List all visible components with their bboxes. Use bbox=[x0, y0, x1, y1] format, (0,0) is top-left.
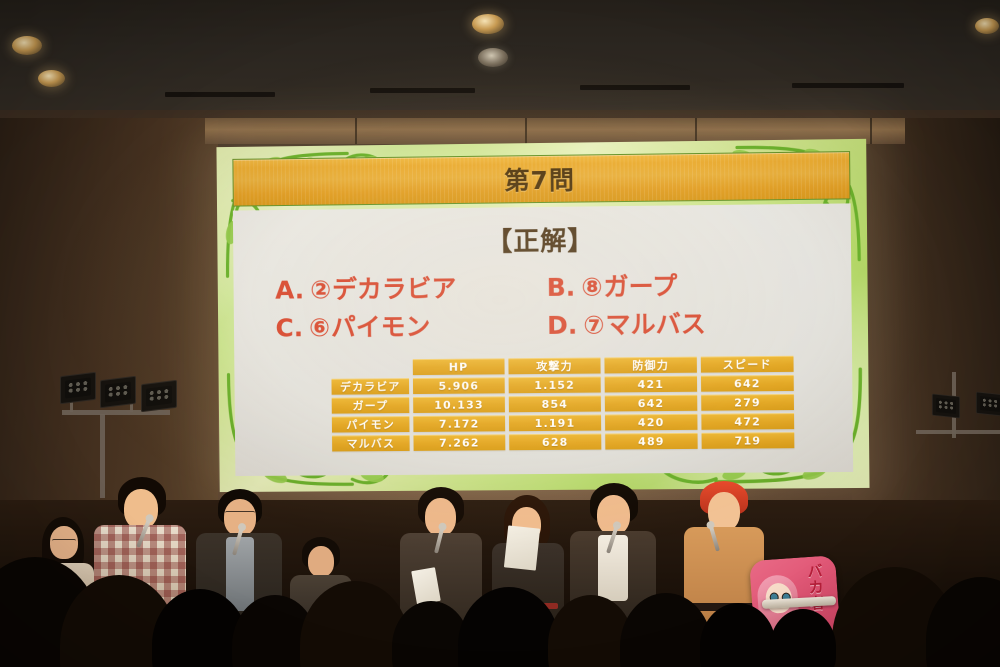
stats-cell-hp: 7.262 bbox=[413, 434, 505, 451]
stats-col-hp: HP bbox=[413, 358, 505, 375]
stats-row-label: マルバス bbox=[332, 435, 410, 452]
presenter-head bbox=[308, 546, 334, 577]
ceiling-strip bbox=[165, 92, 275, 97]
presenter-inner-shirt bbox=[598, 535, 628, 601]
stats-cell-speed: 279 bbox=[701, 394, 794, 411]
answer-key: B. bbox=[547, 273, 576, 302]
stats-col-speed: スピード bbox=[701, 356, 794, 373]
ceiling-downlight bbox=[975, 18, 999, 34]
stats-cell-defense: 489 bbox=[605, 433, 697, 450]
stage-photo-scene: 第7問 【正解】 A.②デカラビア B.⑧ガープ C.⑥パイモン bbox=[0, 0, 1000, 667]
light-stand-crossbar bbox=[62, 410, 170, 415]
slide: 第7問 【正解】 A.②デカラビア B.⑧ガープ C.⑥パイモン bbox=[216, 139, 869, 492]
wall-left-panel bbox=[0, 118, 218, 518]
wall-right-panel bbox=[852, 118, 1000, 518]
stats-col-attack: 攻撃力 bbox=[508, 357, 600, 374]
ceiling-downlight bbox=[478, 48, 508, 67]
stats-cell-defense: 421 bbox=[605, 376, 697, 393]
presenter-head bbox=[124, 489, 158, 529]
stats-cell-attack: 1.191 bbox=[509, 415, 601, 432]
table-row: パイモン 7.172 1.191 420 472 bbox=[332, 413, 794, 433]
answer-key: C. bbox=[275, 313, 303, 342]
stats-cell-attack: 854 bbox=[509, 396, 601, 413]
answer-item-b: B.⑧ガープ bbox=[547, 265, 822, 304]
stats-cell-hp: 10.133 bbox=[413, 396, 505, 413]
stats-header-row: HP 攻撃力 防御力 スピード bbox=[331, 356, 793, 376]
stats-corner-cell bbox=[331, 359, 409, 376]
stats-cell-speed: 642 bbox=[701, 375, 794, 392]
table-row: デカラビア 5.906 1.152 421 642 bbox=[331, 375, 793, 395]
stage-light-fixture bbox=[100, 376, 136, 408]
presenter-papers bbox=[504, 525, 540, 570]
stats-row-label: デカラビア bbox=[331, 378, 409, 395]
answer-name: ガープ bbox=[603, 272, 677, 302]
answer-number: ② bbox=[310, 275, 331, 304]
stage-light-fixture bbox=[60, 372, 96, 404]
ceiling-strip bbox=[792, 83, 904, 88]
stats-table: HP 攻撃力 防御力 スピード デカラビア 5.906 1.152 bbox=[327, 353, 798, 455]
slide-content-panel: 【正解】 A.②デカラビア B.⑧ガープ C.⑥パイモン D.⑦マルバス bbox=[233, 203, 853, 476]
stats-cell-attack: 1.152 bbox=[509, 376, 601, 393]
table-row: ガープ 10.133 854 642 279 bbox=[332, 394, 794, 414]
ceiling-strip bbox=[370, 88, 475, 93]
presenter-inner-shirt bbox=[226, 537, 254, 611]
stats-cell-speed: 472 bbox=[701, 413, 794, 430]
stats-row-label: パイモン bbox=[332, 416, 410, 433]
slide-title: 第7問 bbox=[504, 161, 575, 198]
answer-name: デカラビア bbox=[332, 274, 457, 304]
ceiling-downlight bbox=[472, 14, 504, 34]
answer-key: D. bbox=[547, 311, 578, 340]
presenter-glasses bbox=[52, 539, 76, 544]
stats-cell-speed: 719 bbox=[702, 432, 795, 449]
stage-light-fixture bbox=[932, 394, 960, 419]
answer-number: ⑧ bbox=[581, 272, 602, 301]
answer-key: A. bbox=[275, 275, 304, 304]
projection-screen: 第7問 【正解】 A.②デカラビア B.⑧ガープ C.⑥パイモン bbox=[216, 139, 869, 492]
stats-cell-attack: 628 bbox=[509, 434, 601, 451]
stage-light-fixture bbox=[141, 380, 177, 412]
answer-list: A.②デカラビア B.⑧ガープ C.⑥パイモン D.⑦マルバス bbox=[233, 265, 851, 345]
answer-item-c: C.⑥パイモン bbox=[275, 306, 547, 344]
stats-cell-defense: 642 bbox=[605, 395, 697, 412]
table-row: マルバス 7.262 628 489 719 bbox=[332, 432, 794, 451]
stats-row-label: ガープ bbox=[332, 397, 410, 414]
stage-light-fixture bbox=[976, 392, 1000, 417]
ceiling-downlight bbox=[38, 70, 65, 87]
answer-name: パイモン bbox=[331, 312, 431, 342]
stats-cell-hp: 7.172 bbox=[413, 415, 505, 432]
answer-number: ⑦ bbox=[583, 310, 604, 339]
ceiling-strip bbox=[580, 85, 690, 90]
stats-cell-defense: 420 bbox=[605, 414, 697, 431]
presenter-glasses bbox=[225, 511, 255, 516]
answer-item-d: D.⑦マルバス bbox=[547, 303, 822, 342]
ceiling-downlight bbox=[12, 36, 42, 55]
answer-item-a: A.②デカラビア bbox=[275, 268, 547, 307]
stats-cell-hp: 5.906 bbox=[413, 377, 505, 394]
light-stand-crossbar-right bbox=[916, 430, 1000, 434]
slide-title-bar: 第7問 bbox=[232, 151, 850, 207]
answer-name: マルバス bbox=[605, 309, 706, 339]
answer-number: ⑥ bbox=[309, 313, 330, 342]
correct-answer-heading: 【正解】 bbox=[233, 217, 851, 261]
stats-col-defense: 防御力 bbox=[604, 357, 696, 374]
